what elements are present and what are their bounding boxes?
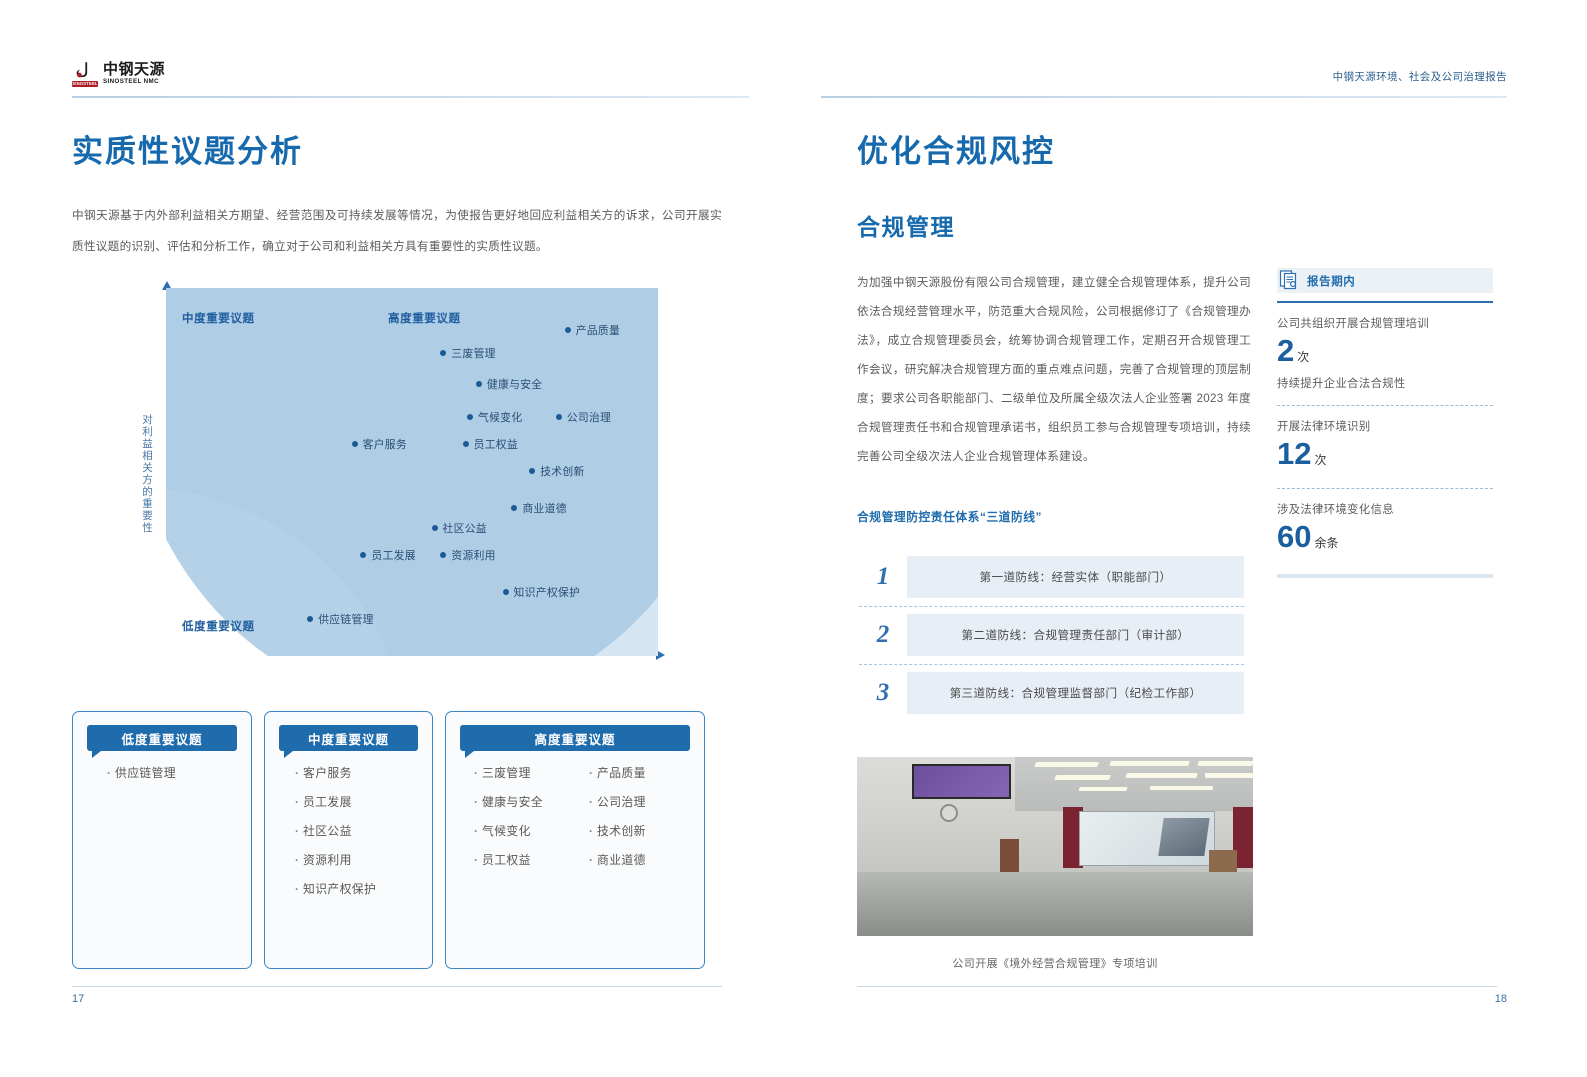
data-point-dot xyxy=(556,414,562,420)
defense-lines-list: 1 第一道防线：经营实体（职能部门） 2 第二道防线：合规管理责任部门（审计部）… xyxy=(859,556,1244,730)
data-point: 员工发展 xyxy=(360,547,415,563)
photo-ceiling-light xyxy=(1034,762,1100,767)
stat-label: 开展法律环境识别 xyxy=(1277,418,1493,437)
page-header-right: 中钢天源环境、社会及公司治理报告 xyxy=(821,60,1507,104)
data-point-dot xyxy=(360,552,366,558)
defense-line-number: 2 xyxy=(859,621,907,649)
stat-item-training: 公司共组织开展合规管理培训 2次 持续提升企业合法合规性 xyxy=(1277,303,1493,406)
data-point-dot xyxy=(511,505,517,511)
footer-divider-left xyxy=(72,986,722,987)
data-point-label: 供应链管理 xyxy=(318,611,373,627)
data-point-label: 知识产权保护 xyxy=(514,584,581,600)
running-header-title: 中钢天源环境、社会及公司治理报告 xyxy=(1333,69,1507,84)
issue-cards: 低度重要议题 供应链管理 中度重要议题 客户服务 员工发展 社区公益 资源利用 … xyxy=(72,711,705,969)
photo-ceiling-light xyxy=(1110,761,1191,766)
data-point: 产品质量 xyxy=(565,322,620,338)
data-point-dot xyxy=(529,468,535,474)
data-point: 三废管理 xyxy=(440,345,495,361)
photo-ceiling-light xyxy=(1197,761,1253,766)
stat-item-legal-changes: 涉及法律环境变化信息 60余条 xyxy=(1277,489,1493,560)
page-number-right: 18 xyxy=(1495,993,1507,1005)
defense-line-text: 第一道防线：经营实体（职能部门） xyxy=(907,556,1244,598)
logo-mark-icon: SINOSTEEL xyxy=(72,60,98,88)
photo-ceiling-light xyxy=(1054,775,1111,780)
logo-text-en: SINOSTEEL NMC xyxy=(103,78,165,86)
list-item: 公司治理 xyxy=(589,793,686,810)
issue-card-title: 高度重要议题 xyxy=(460,725,690,751)
data-point: 商业道德 xyxy=(511,500,566,516)
photo-ceiling-light xyxy=(1125,773,1198,778)
stat-value: 12 xyxy=(1277,436,1311,471)
list-item: 客户服务 xyxy=(295,764,414,781)
list-item: 产品质量 xyxy=(589,764,686,781)
list-item: 三废管理 xyxy=(474,764,571,781)
data-point-dot xyxy=(467,414,473,420)
company-logo: SINOSTEEL 中钢天源 SINOSTEEL NMC xyxy=(72,60,165,88)
logo-base-text: SINOSTEEL xyxy=(72,81,98,87)
data-point-label: 员工权益 xyxy=(474,436,518,452)
stats-panel-heading-text: 报告期内 xyxy=(1307,273,1355,289)
data-point-label: 产品质量 xyxy=(576,322,620,338)
data-point-label: 公司治理 xyxy=(567,409,611,425)
issue-card-list: 客户服务 员工发展 社区公益 资源利用 知识产权保护 xyxy=(295,764,414,897)
photo-wall-clock xyxy=(940,804,958,822)
list-item: 知识产权保护 xyxy=(295,880,414,897)
issue-card-list-col1: 三废管理 健康与安全 气候变化 员工权益 xyxy=(474,764,571,868)
defense-line-text: 第三道防线：合规管理监督部门（纪检工作部） xyxy=(907,672,1244,714)
certificate-document-icon xyxy=(1279,270,1301,291)
page-header-left: SINOSTEEL 中钢天源 SINOSTEEL NMC xyxy=(72,60,749,104)
data-point: 资源利用 xyxy=(440,547,495,563)
stats-panel-heading: 报告期内 xyxy=(1277,268,1493,293)
list-item: 健康与安全 xyxy=(474,793,571,810)
list-item: 商业道德 xyxy=(589,851,686,868)
materiality-matrix-chart: 对利益相关方的重要性 中度重要议题 高度重要议题 低度重要议题 产品质量 三废管… xyxy=(128,288,658,670)
page-title-right: 优化合规风控 xyxy=(857,126,1055,171)
photo-wall-tv xyxy=(912,764,1011,798)
data-point-dot xyxy=(307,616,313,622)
chart-y-axis-label: 对利益相关方的重要性 xyxy=(132,384,154,564)
footer-divider-right xyxy=(857,986,1497,987)
data-point-label: 技术创新 xyxy=(540,463,584,479)
compliance-body-paragraph: 为加强中钢天源股份有限公司合规管理，建立健全合规管理体系，提升公司依法合规经营管… xyxy=(857,268,1251,471)
stat-item-legal-scan: 开展法律环境识别 12次 xyxy=(1277,406,1493,489)
defense-section-title: 合规管理防控责任体系“三道防线” xyxy=(857,508,1042,525)
data-point: 健康与安全 xyxy=(476,376,542,392)
issue-card-list: 供应链管理 xyxy=(107,764,233,781)
list-item: 社区公益 xyxy=(295,822,414,839)
data-point: 员工权益 xyxy=(463,436,518,452)
stat-value: 2 xyxy=(1277,333,1294,368)
stats-panel: 报告期内 公司共组织开展合规管理培训 2次 持续提升企业合法合规性 开展法律环境… xyxy=(1277,268,1493,578)
data-point: 知识产权保护 xyxy=(503,584,581,600)
zone-label-moderate: 中度重要议题 xyxy=(182,310,255,326)
zone-label-low: 低度重要议题 xyxy=(182,618,255,634)
defense-line-text: 第二道防线：合规管理责任部门（审计部） xyxy=(907,614,1244,656)
issue-card-low: 低度重要议题 供应链管理 xyxy=(72,711,252,969)
data-point: 技术创新 xyxy=(529,463,584,479)
data-point-dot xyxy=(440,552,446,558)
photo-projection-screen xyxy=(1079,811,1216,867)
photo-audience xyxy=(857,872,1253,936)
issue-card-moderate: 中度重要议题 客户服务 员工发展 社区公益 资源利用 知识产权保护 xyxy=(264,711,433,969)
data-point-dot xyxy=(476,381,482,387)
photo-ceiling-light xyxy=(1205,773,1253,778)
defense-line-row: 3 第三道防线：合规管理监督部门（纪检工作部） xyxy=(859,672,1244,714)
list-item: 资源利用 xyxy=(295,851,414,868)
logo-swoosh-icon xyxy=(74,61,95,81)
data-point-label: 客户服务 xyxy=(363,436,407,452)
header-divider xyxy=(821,96,1507,98)
stat-value-row: 60余条 xyxy=(1277,520,1493,560)
data-point: 气候变化 xyxy=(467,409,522,425)
defense-line-row: 1 第一道防线：经营实体（职能部门） xyxy=(859,556,1244,598)
stat-label: 涉及法律环境变化信息 xyxy=(1277,501,1493,520)
photo-caption: 公司开展《境外经营合规管理》专项培训 xyxy=(857,955,1253,971)
stat-unit: 次 xyxy=(1314,453,1326,467)
list-item: 气候变化 xyxy=(474,822,571,839)
data-point-dot xyxy=(565,327,571,333)
data-point-dot xyxy=(440,350,446,356)
photo-ceiling-light xyxy=(1150,786,1213,790)
training-photo xyxy=(857,757,1253,936)
data-point-label: 资源利用 xyxy=(451,547,495,563)
data-point-dot xyxy=(352,441,358,447)
data-point: 供应链管理 xyxy=(307,611,373,627)
logo-text-cn: 中钢天源 xyxy=(103,62,165,78)
page-title-left: 实质性议题分析 xyxy=(72,126,303,171)
data-point-dot xyxy=(463,441,469,447)
stat-value-row: 2次 xyxy=(1277,334,1493,374)
data-point-label: 气候变化 xyxy=(478,409,522,425)
issue-card-title: 中度重要议题 xyxy=(279,725,418,751)
data-point-dot xyxy=(503,589,509,595)
report-spread: SINOSTEEL 中钢天源 SINOSTEEL NMC 实质性议题分析 中钢天… xyxy=(0,0,1587,1077)
list-item: 技术创新 xyxy=(589,822,686,839)
data-point-label: 员工发展 xyxy=(371,547,415,563)
issue-card-high: 高度重要议题 三废管理 健康与安全 气候变化 员工权益 产品质量 公司治理 技术… xyxy=(445,711,705,969)
data-point: 社区公益 xyxy=(432,520,487,536)
stat-label: 公司共组织开展合规管理培训 xyxy=(1277,315,1493,334)
photo-screen-graphic xyxy=(1158,818,1209,856)
data-point-label: 三废管理 xyxy=(451,345,495,361)
issue-card-title: 低度重要议题 xyxy=(87,725,237,751)
stat-value: 60 xyxy=(1277,519,1311,554)
stat-unit: 余条 xyxy=(1314,536,1338,550)
header-divider xyxy=(72,96,749,98)
data-point: 公司治理 xyxy=(556,409,611,425)
issue-card-list-col2: 产品质量 公司治理 技术创新 商业道德 xyxy=(589,764,686,868)
data-point-label: 健康与安全 xyxy=(487,376,542,392)
defense-line-number: 3 xyxy=(859,679,907,707)
data-point-label: 商业道德 xyxy=(522,500,566,516)
list-item: 员工权益 xyxy=(474,851,571,868)
page-left: SINOSTEEL 中钢天源 SINOSTEEL NMC 实质性议题分析 中钢天… xyxy=(0,0,793,1077)
zone-label-high: 高度重要议题 xyxy=(388,310,461,326)
defense-line-number: 1 xyxy=(859,563,907,591)
defense-line-row: 2 第二道防线：合规管理责任部门（审计部） xyxy=(859,614,1244,656)
chart-plot-area: 中度重要议题 高度重要议题 低度重要议题 产品质量 三废管理 健康与安全 气候变… xyxy=(166,288,658,656)
page-number-left: 17 xyxy=(72,993,84,1005)
list-item: 供应链管理 xyxy=(107,764,233,781)
data-point-label: 社区公益 xyxy=(443,520,487,536)
data-point: 客户服务 xyxy=(352,436,407,452)
stat-value-row: 12次 xyxy=(1277,437,1493,477)
page-right: 中钢天源环境、社会及公司治理报告 优化合规风控 合规管理 为加强中钢天源股份有限… xyxy=(793,0,1587,1077)
intro-paragraph: 中钢天源基于内外部利益相关方期望、经营范围及可持续发展等情况，为使报告更好地回应… xyxy=(72,200,722,262)
data-point-dot xyxy=(432,525,438,531)
stat-subtext: 持续提升企业合法合规性 xyxy=(1277,374,1493,394)
stats-panel-footer-bar xyxy=(1277,574,1493,578)
list-item: 员工发展 xyxy=(295,793,414,810)
section-subtitle: 合规管理 xyxy=(857,208,955,242)
stat-unit: 次 xyxy=(1297,350,1309,364)
